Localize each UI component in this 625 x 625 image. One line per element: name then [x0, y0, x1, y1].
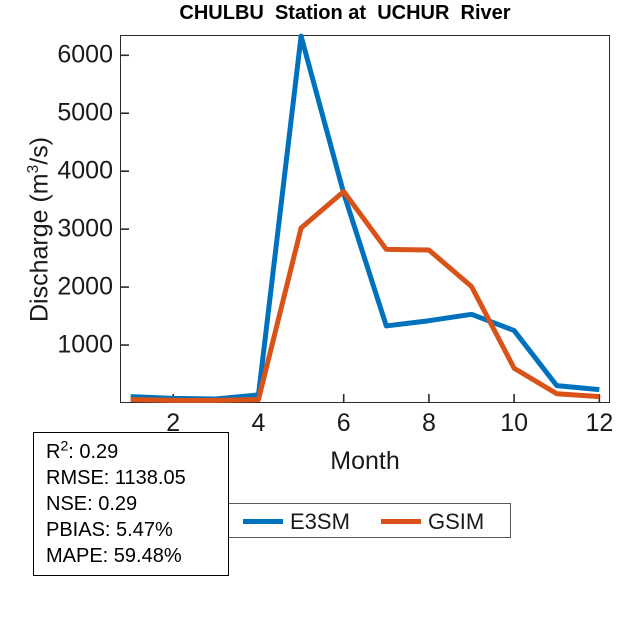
y-axis-label-base: Discharge (m: [26, 173, 54, 322]
stat-pbias: PBIAS: 5.47%: [46, 517, 228, 543]
statistics-box: R2: 0.29 RMSE: 1138.05 NSE: 0.29 PBIAS: …: [33, 432, 229, 576]
chart-legend: E3SM GSIM: [228, 503, 511, 538]
x-tick-label: 10: [484, 409, 544, 438]
x-tick-label: 4: [228, 409, 288, 438]
x-tick-label: 8: [399, 409, 459, 438]
stat-nse: NSE: 0.29: [46, 491, 228, 517]
x-tick-label: 12: [569, 409, 625, 438]
legend-label-gsim: GSIM: [428, 509, 484, 535]
plot-area: [120, 35, 610, 403]
data-series-group: [131, 36, 600, 400]
series-line-gsim: [131, 191, 600, 400]
x-tick-label: 6: [314, 409, 374, 438]
legend-swatch-e3sm: [243, 519, 283, 524]
y-axis-label-tail: /s): [26, 137, 54, 165]
y-tick-label: 6000: [10, 41, 113, 70]
stat-r2-value: : 0.29: [68, 441, 118, 463]
chart-title: CHULBU Station at UCHUR River: [120, 2, 570, 25]
stat-r2: R2: 0.29: [46, 439, 228, 465]
stat-mape: MAPE: 59.48%: [46, 543, 228, 569]
figure-canvas: CHULBU Station at UCHUR River Discharge …: [0, 0, 625, 625]
y-axis-label-exponent: 3: [25, 165, 42, 174]
stat-r2-label: R: [46, 441, 60, 463]
legend-entry-gsim[interactable]: GSIM: [381, 504, 484, 539]
legend-entry-e3sm[interactable]: E3SM: [243, 504, 350, 539]
legend-swatch-gsim: [381, 519, 421, 524]
legend-label-e3sm: E3SM: [290, 509, 350, 535]
stat-rmse: RMSE: 1138.05: [46, 465, 228, 491]
y-axis-label: Discharge (m3/s): [26, 70, 55, 390]
